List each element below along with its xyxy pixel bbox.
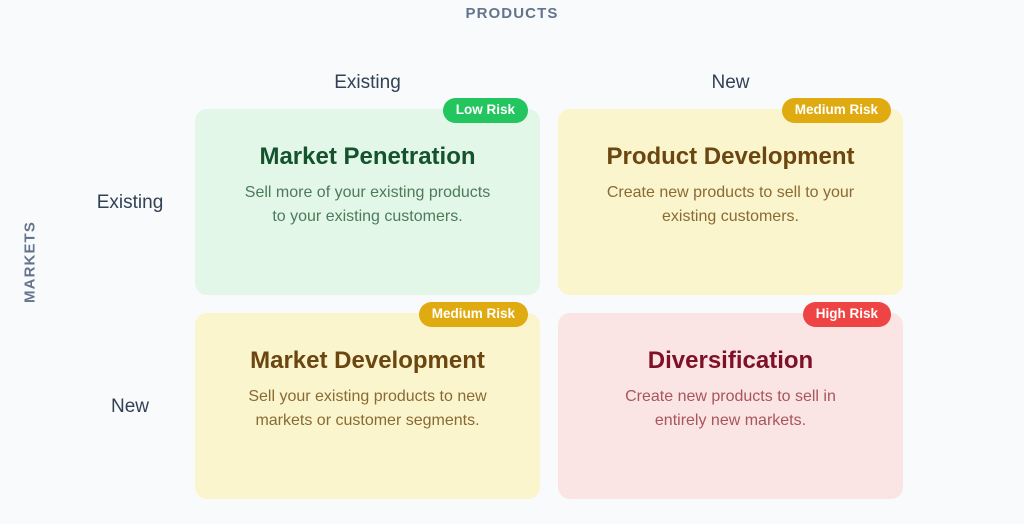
risk-badge-high: High Risk xyxy=(803,302,891,327)
quadrant-product-development[interactable]: Medium Risk Product Development Create n… xyxy=(558,109,903,295)
quadrant-description-market-development: Sell your existing products to new marke… xyxy=(240,385,495,435)
row-header-new: New xyxy=(70,396,190,418)
markets-axis-title: MARKETS xyxy=(22,221,39,303)
quadrant-market-development[interactable]: Medium Risk Market Development Sell your… xyxy=(195,313,540,499)
risk-badge-medium: Medium Risk xyxy=(419,302,528,327)
quadrant-market-penetration[interactable]: Low Risk Market Penetration Sell more of… xyxy=(195,109,540,295)
products-axis-title: PRODUCTS xyxy=(0,5,1024,22)
quadrant-title-market-development: Market Development xyxy=(250,347,485,375)
quadrant-title-product-development: Product Development xyxy=(606,143,854,171)
quadrant-description-market-penetration: Sell more of your existing products to y… xyxy=(240,181,495,231)
risk-badge-low: Low Risk xyxy=(443,98,528,123)
quadrant-description-product-development: Create new products to sell to your exis… xyxy=(603,181,858,231)
quadrant-description-diversification: Create new products to sell in entirely … xyxy=(603,385,858,435)
quadrant-title-diversification: Diversification xyxy=(648,347,813,375)
column-header-new: New xyxy=(558,72,903,94)
column-header-existing: Existing xyxy=(195,72,540,94)
ansoff-matrix-grid: Low Risk Market Penetration Sell more of… xyxy=(195,109,903,499)
quadrant-title-market-penetration: Market Penetration xyxy=(259,143,475,171)
row-header-existing: Existing xyxy=(70,192,190,214)
risk-badge-medium: Medium Risk xyxy=(782,98,891,123)
quadrant-diversification[interactable]: High Risk Diversification Create new pro… xyxy=(558,313,903,499)
